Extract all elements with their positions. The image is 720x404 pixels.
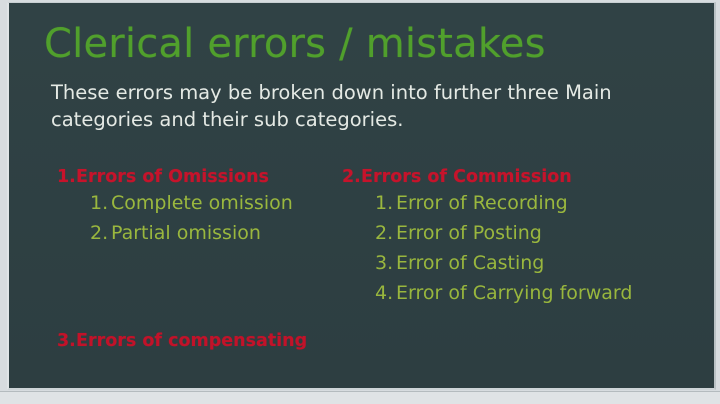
list-item: 1. Complete omission [57, 188, 293, 218]
subtitle-line-1: These errors may be broken down into fur… [51, 79, 691, 106]
heading-errors-of-compensating: 3. Errors of compensating [57, 331, 307, 351]
heading-label: Errors of compensating [76, 331, 307, 351]
list-item: 2. Error of Posting [342, 218, 632, 248]
list-item-number: 2. [90, 218, 111, 248]
list-item: 1. Error of Recording [342, 188, 632, 218]
heading-number: 2. [342, 166, 361, 188]
list-item-number: 1. [90, 188, 111, 218]
heading-errors-of-commission: 2. Errors of Commission [342, 166, 632, 188]
video-player-frame: Clerical errors / mistakes These errors … [0, 0, 720, 404]
errors-commission-column: 2. Errors of Commission 1. Error of Reco… [342, 166, 632, 308]
list-item-label: Complete omission [111, 192, 293, 214]
list-item-number: 4. [375, 278, 396, 308]
player-control-strip[interactable] [0, 391, 720, 404]
list-item-label: Partial omission [111, 222, 261, 244]
list-item-number: 1. [375, 188, 396, 218]
list-item-label: Error of Recording [396, 192, 568, 214]
list-item: 2. Partial omission [57, 218, 293, 248]
subtitle-line-2: categories and their sub categories. [51, 106, 691, 133]
list-item-label: Error of Carrying forward [396, 282, 632, 304]
omissions-sub-list: 1. Complete omission 2. Partial omission [57, 188, 293, 248]
list-item: 3. Error of Casting [342, 248, 632, 278]
heading-number: 3. [57, 331, 76, 351]
list-item-label: Error of Casting [396, 252, 544, 274]
heading-number: 1. [57, 166, 76, 188]
heading-errors-of-omissions: 1. Errors of Omissions [57, 166, 293, 188]
list-item-label: Error of Posting [396, 222, 542, 244]
heading-label: Errors of Commission [361, 167, 572, 187]
slide-title: Clerical errors / mistakes [44, 21, 546, 67]
commission-sub-list: 1. Error of Recording 2. Error of Postin… [342, 188, 632, 308]
slide-border: Clerical errors / mistakes These errors … [7, 2, 716, 390]
list-item-number: 3. [375, 248, 396, 278]
list-item: 4. Error of Carrying forward [342, 278, 632, 308]
errors-omissions-column: 1. Errors of Omissions 1. Complete omiss… [57, 166, 293, 248]
heading-label: Errors of Omissions [76, 167, 269, 187]
slide-subtitle: These errors may be broken down into fur… [51, 79, 691, 133]
presentation-slide: Clerical errors / mistakes These errors … [9, 3, 714, 388]
list-item-number: 2. [375, 218, 396, 248]
